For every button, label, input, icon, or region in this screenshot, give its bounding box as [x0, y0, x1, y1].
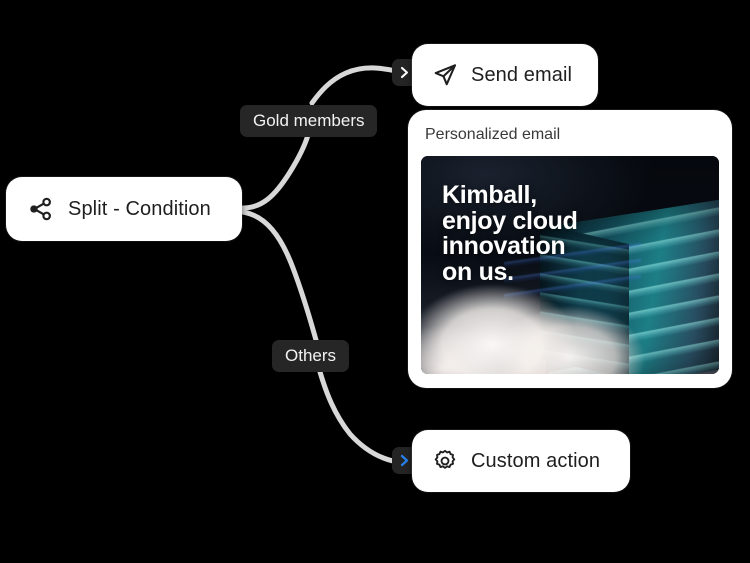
node-split-condition-label: Split - Condition [68, 198, 211, 221]
paper-plane-icon [432, 62, 458, 88]
connector-others-to-custom-action [320, 372, 398, 462]
chevron-right-icon [399, 66, 410, 79]
connector-split-to-gold [243, 135, 308, 208]
email-headline: Kimball, enjoy cloud innovation on us. [442, 183, 578, 285]
card-personalized-email-title: Personalized email [421, 122, 719, 152]
node-split-condition[interactable]: Split - Condition [6, 177, 242, 241]
artwork-clouds [421, 274, 701, 374]
card-personalized-email[interactable]: Personalized email Kimball, enjoy cloud … [408, 110, 732, 388]
connector-gold-to-send-email [312, 68, 396, 103]
branch-label-others[interactable]: Others [272, 340, 349, 372]
gear-icon [432, 448, 458, 474]
node-send-email[interactable]: Send email [412, 44, 598, 106]
branch-label-gold-members[interactable]: Gold members [240, 105, 377, 137]
connector-split-to-others [243, 212, 316, 340]
node-custom-action[interactable]: Custom action [412, 430, 630, 492]
node-custom-action-label: Custom action [471, 450, 600, 473]
workflow-canvas[interactable]: Split - Condition Send email Gold member… [0, 0, 750, 563]
share-icon [28, 196, 54, 222]
node-send-email-label: Send email [471, 64, 572, 87]
email-creative-artwork: Kimball, enjoy cloud innovation on us. [421, 156, 719, 374]
chevron-right-icon [399, 454, 410, 467]
